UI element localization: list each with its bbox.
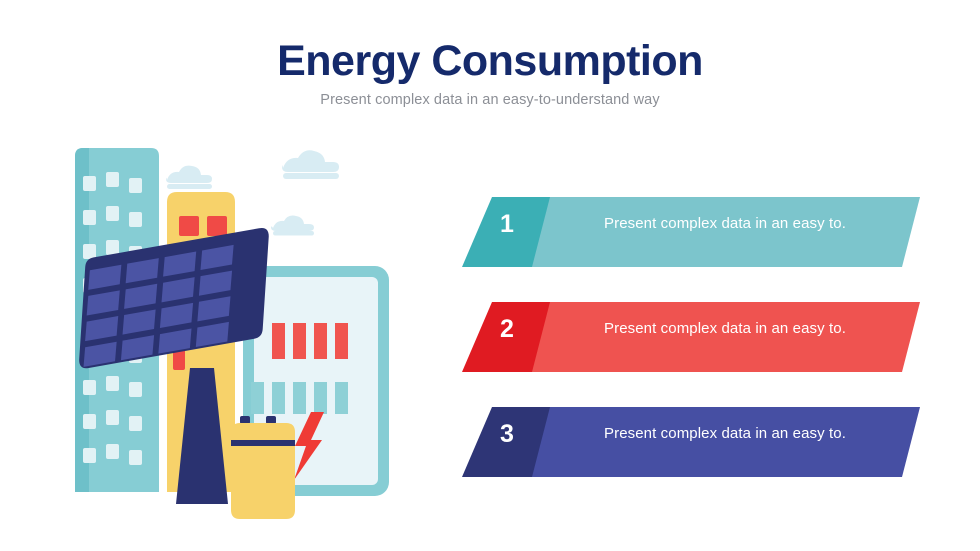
page-title: Energy Consumption [0,38,980,84]
page-subtitle: Present complex data in an easy-to-under… [0,92,980,108]
cloud-icon-left [166,166,212,189]
banner-number-3: 3 [490,422,524,447]
battery [231,416,295,519]
cloud-icon-top [282,150,339,179]
energy-consumption-illustration [55,140,415,525]
banner-item-2[interactable]: 2 Present complex data in an easy to. [440,290,940,390]
slide-header: Energy Consumption Present complex data … [0,38,980,108]
banner-text-1: Present complex data in an easy to. [550,215,900,233]
banner-item-3[interactable]: 3 Present complex data in an easy to. [440,395,940,495]
banner-number-1: 1 [490,212,524,237]
slide-canvas: Energy Consumption Present complex data … [0,0,980,551]
banner-number-2: 2 [490,317,524,342]
banner-text-3: Present complex data in an easy to. [550,425,900,443]
banner-item-1[interactable]: 1 Present complex data in an easy to. [440,185,940,285]
banner-text-2: Present complex data in an easy to. [550,320,900,338]
cloud-icon-right [271,216,314,236]
